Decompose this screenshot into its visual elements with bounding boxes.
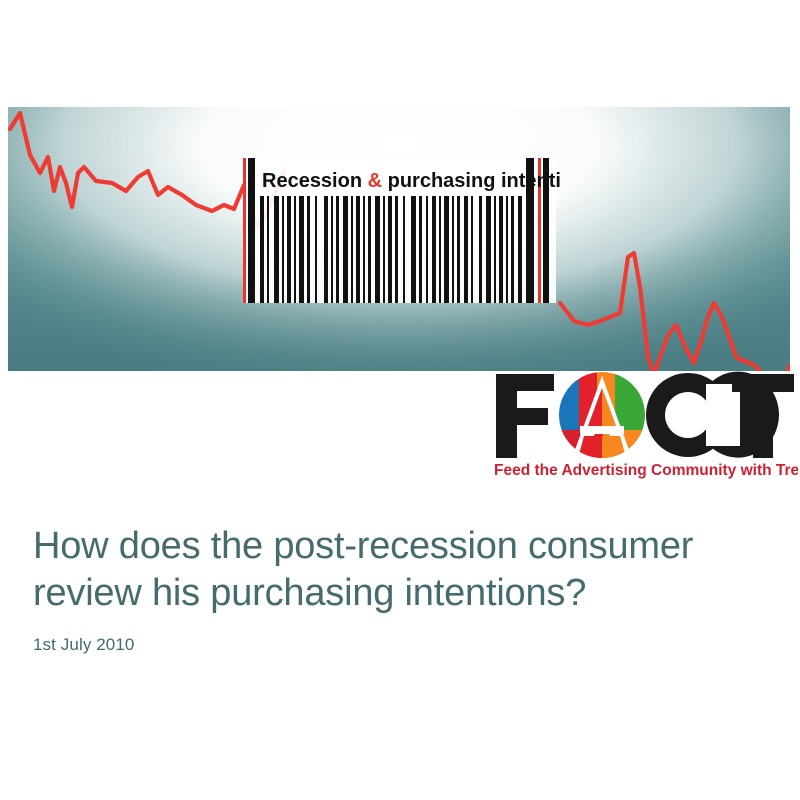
barcode-label-before: Recession (262, 170, 368, 192)
title-block: How does the post-recession consumer rev… (33, 523, 763, 655)
barcode-label-text: Recession & purchasing intention (262, 170, 560, 192)
barcode-label-ampersand: & (368, 170, 382, 192)
fact-logo: Feed the Advertising Community with Tren… (492, 370, 798, 480)
pie-a-crossbar-gap (580, 426, 624, 434)
pie-segment-orange-3 (625, 430, 647, 458)
fact-logo-svg: Feed the Advertising Community with Tren… (492, 370, 798, 480)
slide-date: 1st July 2010 (33, 635, 763, 655)
logo-pie-segments (559, 372, 647, 458)
barcode-graphic: Recession & purchasing intention (242, 158, 560, 303)
barcode-label-after: purchasing intention (382, 170, 560, 192)
barcode-guard-left-red (243, 158, 246, 303)
slide-root: Recession & purchasing intention (0, 0, 800, 800)
logo-letter-f (496, 374, 554, 458)
barcode-svg: Recession & purchasing intention (242, 158, 560, 303)
page-title: How does the post-recession consumer rev… (33, 523, 763, 617)
logo-letter-a-pie (559, 372, 647, 458)
logo-tagline: Feed the Advertising Community with Tren… (494, 462, 798, 479)
